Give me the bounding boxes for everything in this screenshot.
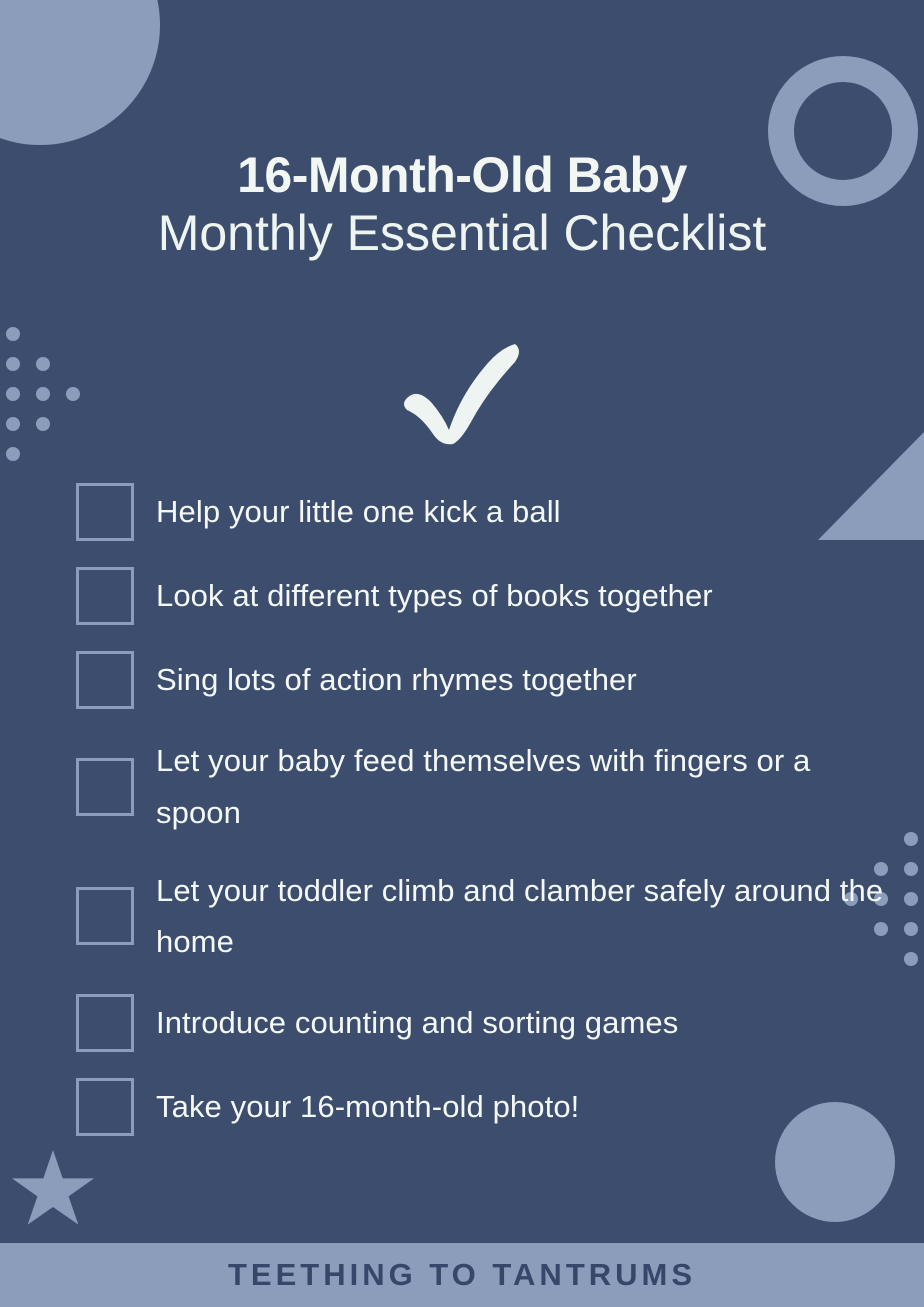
checkbox-item-4[interactable] [76,758,134,816]
list-item[interactable]: Sing lots of action rhymes together [76,651,896,709]
page-subtitle: Monthly Essential Checklist [0,200,924,268]
checkbox-item-1[interactable] [76,483,134,541]
checklist-item-label: Take your 16-month-old photo! [156,1081,579,1133]
checklist-item-label: Let your baby feed themselves with finge… [156,735,886,839]
checklist-item-label: Let your toddler climb and clamber safel… [156,865,886,969]
checkbox-item-3[interactable] [76,651,134,709]
checkbox-item-6[interactable] [76,994,134,1052]
list-item[interactable]: Introduce counting and sorting games [76,994,896,1052]
checkbox-item-7[interactable] [76,1078,134,1136]
checklist: Help your little one kick a ball Look at… [76,483,896,1162]
checklist-item-label: Look at different types of books togethe… [156,570,713,622]
list-item[interactable]: Look at different types of books togethe… [76,567,896,625]
list-item[interactable]: Let your baby feed themselves with finge… [76,735,896,839]
brand-name: TEETHING TO TANTRUMS [228,1257,696,1293]
checkmark-container [0,330,924,450]
list-item[interactable]: Help your little one kick a ball [76,483,896,541]
page-title: 16-Month-Old Baby [0,150,924,200]
checklist-item-label: Introduce counting and sorting games [156,997,678,1049]
title-block: 16-Month-Old Baby Monthly Essential Chec… [0,150,924,268]
list-item[interactable]: Let your toddler climb and clamber safel… [76,865,896,969]
checkbox-item-5[interactable] [76,887,134,945]
footer-brand-bar: TEETHING TO TANTRUMS [0,1243,924,1307]
list-item[interactable]: Take your 16-month-old photo! [76,1078,896,1136]
checklist-item-label: Help your little one kick a ball [156,486,561,538]
checklist-item-label: Sing lots of action rhymes together [156,654,637,706]
checkbox-item-2[interactable] [76,567,134,625]
checkmark-icon [387,330,537,450]
checklist-poster: 16-Month-Old Baby Monthly Essential Chec… [0,0,924,1307]
